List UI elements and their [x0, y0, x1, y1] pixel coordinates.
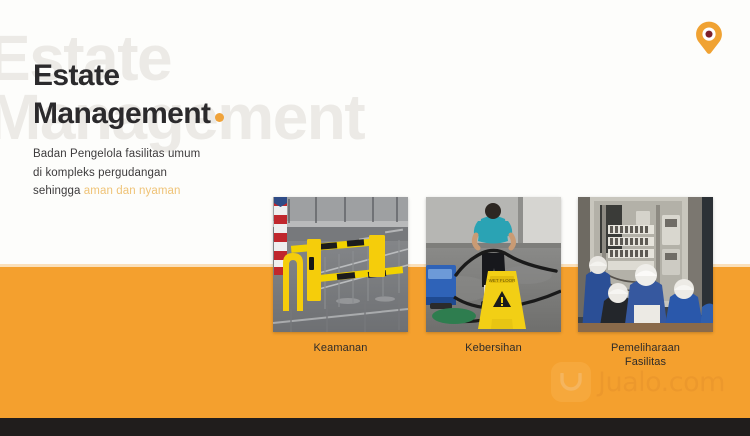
service-card-keamanan[interactable]: Keamanan [273, 197, 408, 356]
service-card-caption: Keamanan [273, 342, 408, 356]
jualo-watermark: Jualo.com [551, 359, 746, 405]
svg-text:WET FLOOR: WET FLOOR [489, 278, 516, 283]
service-card-kebersihan[interactable]: WET FLOOR Kebersihan [426, 197, 561, 356]
caption-line1: Pemeliharaan [611, 342, 680, 354]
security-barrier-gate-photo [273, 197, 408, 332]
jualo-smile-icon [551, 362, 591, 402]
cleaning-worker-photo: WET FLOOR [426, 197, 561, 332]
service-card-pemeliharaan-fasilitas[interactable]: PemeliharaanFasilitas [578, 197, 713, 370]
slide-canvas: Estate Management Estate Management Bada… [0, 0, 750, 436]
jualo-watermark-text: Jualo.com [598, 367, 725, 398]
electrical-panel-maintenance-photo [578, 197, 713, 332]
service-card-caption: Kebersihan [426, 342, 561, 356]
